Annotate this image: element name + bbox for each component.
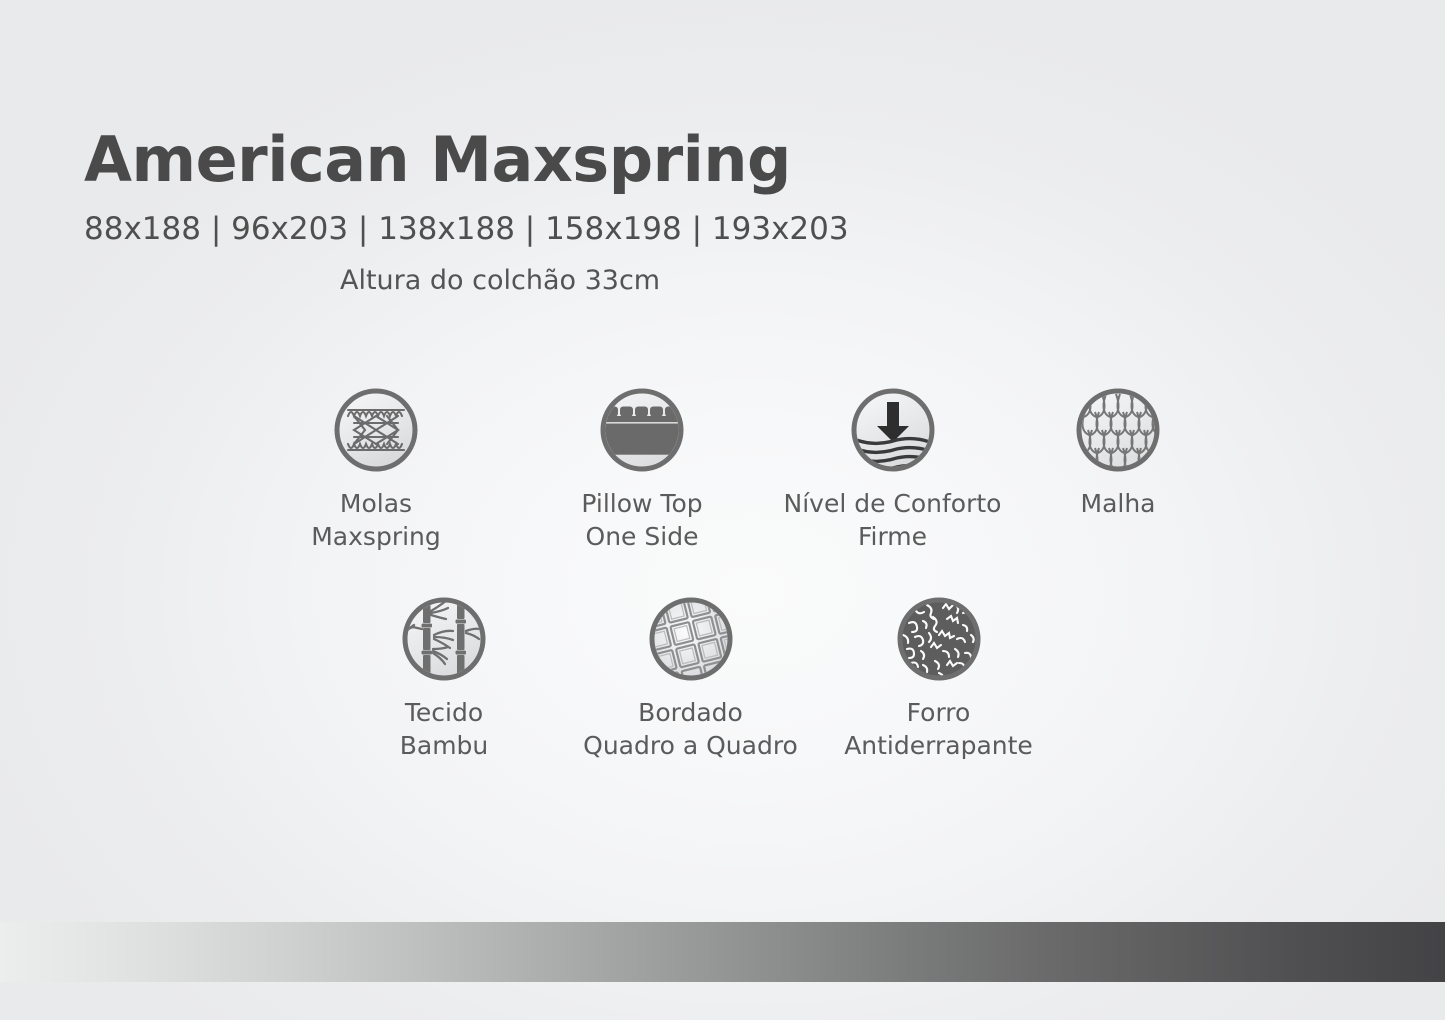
springs-icon: [332, 386, 420, 474]
feature-label: Nível de Conforto Firme: [784, 487, 1002, 553]
feature-label: Bordado Quadro a Quadro: [583, 696, 798, 762]
feature-label: Tecido Bambu: [370, 696, 518, 762]
feature-molas-maxspring: Molas Maxspring: [300, 386, 452, 553]
feature-tecido-bambu: Tecido Bambu: [370, 595, 518, 762]
feature-label: Pillow Top One Side: [581, 487, 702, 553]
feature-row-1: Molas Maxspring: [300, 386, 1200, 553]
mattress-height-note: Altura do colchão 33cm: [340, 265, 1184, 296]
pillow-top-icon: [598, 386, 686, 474]
feature-label: Malha: [1081, 487, 1156, 520]
feature-malha: Malha: [1043, 386, 1193, 520]
feature-forro-antiderrapante: Forro Antiderrapante: [831, 595, 1046, 762]
bottom-gradient-bar: [0, 922, 1445, 982]
comfort-level-icon: [849, 386, 937, 474]
feature-label: Forro Antiderrapante: [844, 696, 1033, 762]
product-info-graphic: American Maxspring 88x188 | 96x203 | 138…: [0, 0, 1445, 1020]
feature-label: Molas Maxspring: [311, 487, 441, 553]
feature-pillow-top: Pillow Top One Side: [542, 386, 742, 553]
feature-comfort-level: Nível de Conforto Firme: [770, 386, 1015, 553]
anti-slip-icon: [895, 595, 983, 683]
feature-bordado: Bordado Quadro a Quadro: [568, 595, 813, 762]
page-title: American Maxspring: [84, 129, 1184, 191]
size-list: 88x188 | 96x203 | 138x188 | 158x198 | 19…: [84, 211, 1184, 247]
header: American Maxspring 88x188 | 96x203 | 138…: [84, 129, 1184, 296]
bamboo-icon: [400, 595, 488, 683]
feature-row-2: Tecido Bambu: [370, 595, 1070, 762]
quilted-square-icon: [647, 595, 735, 683]
knit-mesh-icon: [1074, 386, 1162, 474]
